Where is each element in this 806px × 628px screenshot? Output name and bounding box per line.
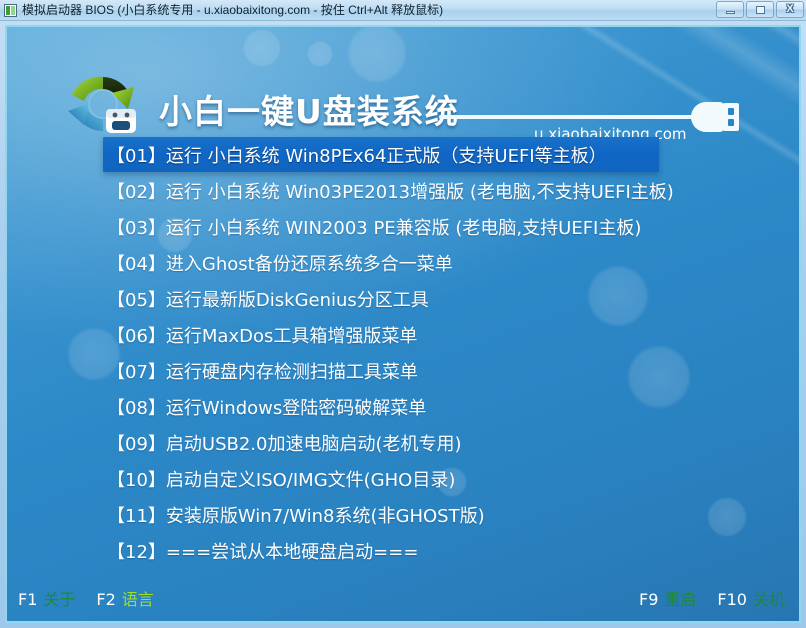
function-keys-right: F9 重启 F10 关机 bbox=[639, 586, 785, 610]
menu-item-label: 运行 小白系统 Win03PE2013增强版 (老电脑,不支持UEFI主板) bbox=[166, 178, 674, 204]
usb-connector-icon bbox=[691, 102, 725, 132]
window-titlebar[interactable]: 模拟启动器 BIOS (小白系统专用 - u.xiaobaixitong.com… bbox=[0, 0, 806, 21]
menu-item-06[interactable]: 【06】运行MaxDos工具箱增强版菜单 bbox=[7, 317, 799, 352]
menu-item-label: 启动自定义ISO/IMG文件(GHO目录) bbox=[166, 466, 455, 492]
fkey-f9[interactable]: F9 bbox=[639, 590, 658, 609]
app-icon bbox=[4, 4, 17, 17]
fkey-f10-label[interactable]: 关机 bbox=[753, 586, 785, 610]
bios-header: 小白一键U盘装系统 u.xiaobaixitong.com bbox=[7, 27, 799, 135]
menu-item-index: 【07】 bbox=[107, 358, 166, 384]
usb-connector-tip-icon bbox=[723, 103, 739, 131]
fkey-f2[interactable]: F2 bbox=[96, 590, 115, 609]
function-key-bar: F1 关于 F2 语言 F9 重启 F10 关机 bbox=[7, 585, 799, 611]
menu-item-label: 运行 小白系统 Win8PEx64正式版（支持UEFI等主板） bbox=[166, 142, 607, 168]
menu-item-index: 【01】 bbox=[107, 142, 166, 168]
fkey-f2-label[interactable]: 语言 bbox=[122, 586, 154, 610]
fkey-f1[interactable]: F1 bbox=[18, 590, 37, 609]
menu-item-label: ===尝试从本地硬盘启动=== bbox=[166, 538, 419, 564]
menu-item-08[interactable]: 【08】运行Windows登陆密码破解菜单 bbox=[7, 389, 799, 424]
menu-item-index: 【08】 bbox=[107, 394, 166, 420]
menu-item-index: 【11】 bbox=[107, 502, 166, 528]
window-controls: X bbox=[716, 1, 804, 18]
fkey-f1-label[interactable]: 关于 bbox=[43, 586, 75, 610]
close-button[interactable]: X bbox=[776, 1, 804, 18]
menu-item-02[interactable]: 【02】运行 小白系统 Win03PE2013增强版 (老电脑,不支持UEFI主… bbox=[7, 173, 799, 208]
menu-item-label: 安装原版Win7/Win8系统(非GHOST版) bbox=[166, 502, 485, 528]
menu-item-index: 【10】 bbox=[107, 466, 166, 492]
recycle-usb-logo-icon bbox=[62, 73, 144, 139]
menu-item-01[interactable]: 【01】运行 小白系统 Win8PEx64正式版（支持UEFI等主板） bbox=[103, 137, 659, 172]
menu-item-07[interactable]: 【07】运行硬盘内存检测扫描工具菜单 bbox=[7, 353, 799, 388]
fkey-f10[interactable]: F10 bbox=[717, 590, 747, 609]
menu-item-label: 运行MaxDos工具箱增强版菜单 bbox=[166, 322, 417, 348]
menu-item-label: 运行 小白系统 WIN2003 PE兼容版 (老电脑,支持UEFI主板) bbox=[166, 214, 641, 240]
minimize-button[interactable] bbox=[716, 1, 744, 18]
menu-item-index: 【04】 bbox=[107, 250, 166, 276]
menu-item-10[interactable]: 【10】启动自定义ISO/IMG文件(GHO目录) bbox=[7, 461, 799, 496]
menu-item-label: 运行最新版DiskGenius分区工具 bbox=[166, 286, 429, 312]
bios-screen-frame: 小白一键U盘装系统 u.xiaobaixitong.com 【01】运行 小白系… bbox=[5, 25, 801, 623]
menu-item-index: 【03】 bbox=[107, 214, 166, 240]
bios-emulator-window: 模拟启动器 BIOS (小白系统专用 - u.xiaobaixitong.com… bbox=[0, 0, 806, 628]
menu-item-label: 运行硬盘内存检测扫描工具菜单 bbox=[166, 358, 418, 384]
menu-item-12[interactable]: 【12】===尝试从本地硬盘启动=== bbox=[7, 533, 799, 568]
menu-item-index: 【02】 bbox=[107, 178, 166, 204]
menu-item-index: 【06】 bbox=[107, 322, 166, 348]
menu-item-index: 【05】 bbox=[107, 286, 166, 312]
window-title: 模拟启动器 BIOS (小白系统专用 - u.xiaobaixitong.com… bbox=[22, 3, 443, 17]
menu-item-label: 运行Windows登陆密码破解菜单 bbox=[166, 394, 426, 420]
menu-item-label: 进入Ghost备份还原系统多合一菜单 bbox=[166, 250, 453, 276]
menu-item-11[interactable]: 【11】安装原版Win7/Win8系统(非GHOST版) bbox=[7, 497, 799, 532]
maximize-button[interactable] bbox=[746, 1, 774, 18]
usb-cable-line bbox=[439, 115, 699, 119]
boot-menu-list: 【01】运行 小白系统 Win8PEx64正式版（支持UEFI等主板） 【02】… bbox=[7, 137, 799, 569]
fkey-f9-label[interactable]: 重启 bbox=[664, 586, 696, 610]
menu-item-05[interactable]: 【05】运行最新版DiskGenius分区工具 bbox=[7, 281, 799, 316]
function-keys-left: F1 关于 F2 语言 bbox=[18, 586, 154, 610]
brand-title: 小白一键U盘装系统 bbox=[159, 85, 459, 133]
menu-item-09[interactable]: 【09】启动USB2.0加速电脑启动(老机专用) bbox=[7, 425, 799, 460]
menu-item-04[interactable]: 【04】进入Ghost备份还原系统多合一菜单 bbox=[7, 245, 799, 280]
menu-item-index: 【09】 bbox=[107, 430, 166, 456]
menu-item-03[interactable]: 【03】运行 小白系统 WIN2003 PE兼容版 (老电脑,支持UEFI主板) bbox=[7, 209, 799, 244]
minimize-icon bbox=[726, 11, 735, 14]
menu-item-index: 【12】 bbox=[107, 538, 166, 564]
bios-screen: 小白一键U盘装系统 u.xiaobaixitong.com 【01】运行 小白系… bbox=[7, 27, 799, 621]
close-icon: X bbox=[786, 4, 793, 15]
menu-item-label: 启动USB2.0加速电脑启动(老机专用) bbox=[166, 430, 462, 456]
maximize-icon bbox=[756, 6, 765, 14]
